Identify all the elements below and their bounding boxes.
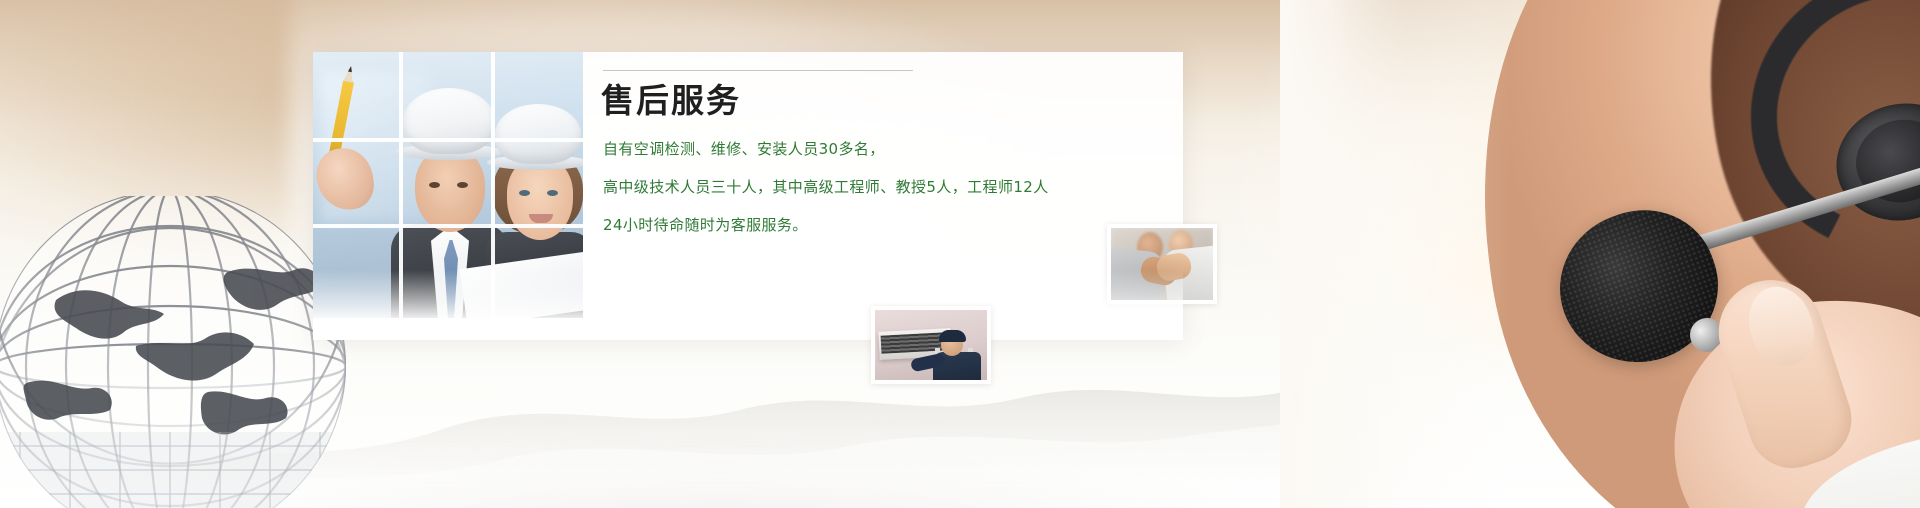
technician-image: [875, 310, 987, 380]
technician-cap: [939, 330, 966, 342]
engineer-male-eye-right: [457, 182, 468, 188]
call-center-operator-photo: [1280, 0, 1920, 508]
engineer-female-face: [507, 158, 573, 240]
description-line-2: 高中级技术人员三十人，其中高级工程师、教授5人，工程师12人: [603, 178, 1163, 196]
content-card: 售后服务 自有空调检测、维修、安装人员30多名， 高中级技术人员三十人，其中高级…: [313, 52, 1183, 340]
card-text-column: 售后服务 自有空调检测、维修、安装人员30多名， 高中级技术人员三十人，其中高级…: [591, 52, 1183, 340]
page-title: 售后服务: [601, 80, 741, 121]
engineer-female-eye-right: [547, 190, 558, 196]
engineer-female-eye-left: [519, 190, 530, 196]
description-line-3: 24小时待命随时为客服服务。: [603, 216, 1163, 234]
engineer-male-face: [415, 148, 485, 232]
hard-hat-icon: [403, 88, 495, 154]
engineer-male-eye-left: [429, 182, 440, 188]
handshake-image: [1111, 228, 1213, 300]
technician-thumbnail: [871, 306, 991, 384]
hard-hat-icon: [495, 104, 581, 164]
title-divider: [603, 70, 913, 71]
description-line-1: 自有空调检测、维修、安装人员30多名，: [603, 140, 1163, 158]
handshake-thumbnail: [1107, 224, 1217, 304]
description-block: 自有空调检测、维修、安装人员30多名， 高中级技术人员三十人，其中高级工程师、教…: [603, 140, 1163, 254]
service-banner: 售后服务 自有空调检测、维修、安装人员30多名， 高中级技术人员三十人，其中高级…: [0, 0, 1920, 508]
engineers-montage-photo: [313, 52, 583, 318]
